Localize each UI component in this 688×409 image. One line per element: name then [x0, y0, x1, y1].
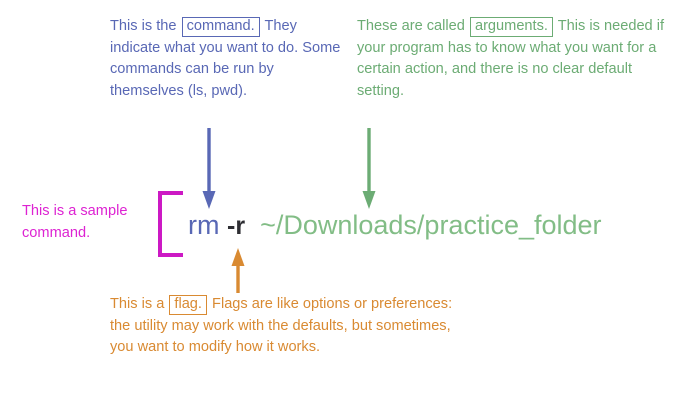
arguments-note-before: These are called [357, 18, 469, 34]
arguments-annotation-note: These are called arguments. This is need… [357, 16, 669, 102]
command-note-before: This is the [110, 18, 181, 34]
command-space-1 [219, 210, 227, 240]
flag-boxed-term: flag. [169, 295, 207, 315]
arguments-arrow-icon [363, 128, 376, 209]
flag-annotation-note: This is a flag. Flags are like options o… [110, 294, 458, 359]
flag-note-before: This is a [110, 296, 168, 312]
command-anatomy-diagram: This is the command. They indicate what … [0, 0, 688, 409]
flag-arrow-icon [232, 248, 245, 293]
command-space-2 [245, 210, 260, 240]
flag-token: -r [227, 212, 245, 240]
sample-command-note: This is a sample command. [22, 201, 152, 244]
sample-command-line: rm -r ~/Downloads/practice_folder [188, 206, 602, 245]
command-arrow-icon [203, 128, 216, 209]
command-annotation-note: This is the command. They indicate what … [110, 16, 342, 102]
sample-command-bracket [158, 191, 183, 257]
argument-token: ~/Downloads/practice_folder [260, 210, 601, 240]
command-token: rm [188, 210, 219, 240]
command-boxed-term: command. [182, 17, 260, 37]
arguments-boxed-term: arguments. [470, 17, 553, 37]
